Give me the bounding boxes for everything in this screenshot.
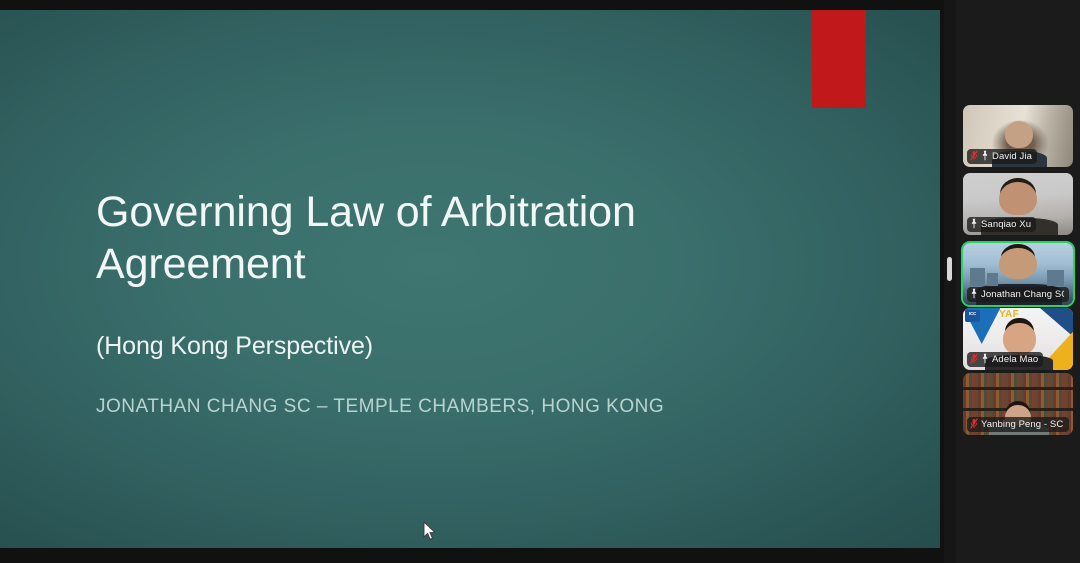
participant-name: Yanbing Peng - SC… <box>981 417 1064 432</box>
slide-accent-bar <box>812 10 866 108</box>
mic-muted-icon <box>970 351 978 369</box>
decorative-shape <box>1040 308 1073 337</box>
participant-nameplate: Yanbing Peng - SC… <box>967 417 1069 432</box>
decorative-building <box>1047 270 1065 286</box>
participant-face <box>1003 323 1036 355</box>
participant-tile-david-jia[interactable]: David Jia <box>963 105 1073 167</box>
participant-nameplate: Adela Mao <box>967 352 1043 367</box>
meeting-window: Governing Law of Arbitration Agreement (… <box>0 0 1080 563</box>
decorative-building <box>970 268 985 287</box>
shared-screen-stage[interactable]: Governing Law of Arbitration Agreement (… <box>0 0 948 563</box>
slide-subtitle: (Hong Kong Perspective) <box>96 332 373 361</box>
participant-name: Jonathan Chang SC <box>981 287 1064 302</box>
presentation-slide[interactable]: Governing Law of Arbitration Agreement (… <box>0 10 940 548</box>
participant-tile-jonathan-chang-sc[interactable]: Jonathan Chang SC <box>963 243 1073 305</box>
pin-icon <box>970 216 978 234</box>
participant-tile-adela-mao[interactable]: ICC YAF <box>963 308 1073 370</box>
participant-nameplate: Sanqiao Xu <box>967 217 1036 232</box>
yaf-logo-text: YAF <box>999 309 1019 320</box>
participant-tile-yanbing-peng[interactable]: Yanbing Peng - SC… <box>963 373 1073 435</box>
icc-logo: ICC <box>965 310 980 322</box>
participant-nameplate: David Jia <box>967 149 1037 164</box>
participant-name: Sanqiao Xu <box>981 217 1031 232</box>
participant-tile-sanqiao-xu[interactable]: Sanqiao Xu <box>963 173 1073 235</box>
mic-muted-icon <box>970 148 978 166</box>
mic-muted-icon <box>970 416 978 434</box>
decorative-shelf <box>963 387 1073 390</box>
panel-divider <box>944 0 956 563</box>
participant-name: David Jia <box>992 149 1032 164</box>
slide-presenter-line: JONATHAN CHANG SC – TEMPLE CHAMBERS, HON… <box>96 396 664 418</box>
participant-filmstrip[interactable]: David Jia Sanqiao Xu <box>956 0 1080 563</box>
drag-handle-icon[interactable] <box>947 257 952 281</box>
mouse-pointer-icon <box>423 521 437 541</box>
participant-nameplate: Jonathan Chang SC <box>967 287 1069 302</box>
pin-icon <box>970 286 978 304</box>
pin-icon <box>981 148 989 166</box>
pin-icon <box>981 351 989 369</box>
slide-title: Governing Law of Arbitration Agreement <box>96 186 836 290</box>
participant-name: Adela Mao <box>992 352 1038 367</box>
decorative-building <box>987 273 998 287</box>
